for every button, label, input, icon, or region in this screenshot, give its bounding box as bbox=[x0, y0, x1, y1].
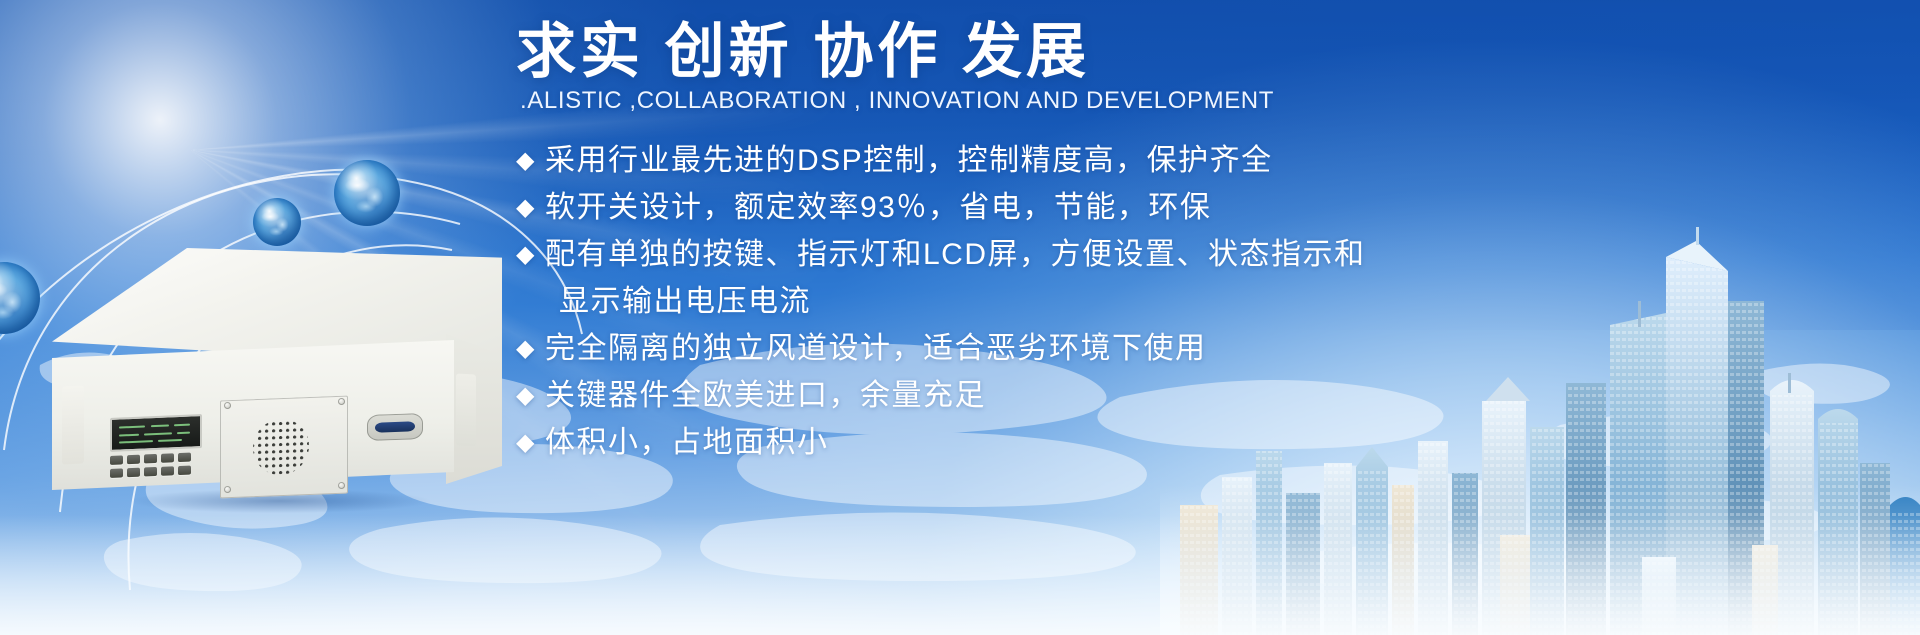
feature-list-item-text: 显示输出电压电流 bbox=[545, 278, 811, 325]
globe-sphere bbox=[334, 160, 400, 226]
feature-list: ◆采用行业最先进的DSP控制，控制精度高，保护齐全◆软开关设计，额定效率93％，… bbox=[516, 137, 1826, 466]
feature-list-item-text: 完全隔离的独立风道设计，适合恶劣环境下使用 bbox=[545, 325, 1207, 372]
globe-sphere bbox=[253, 198, 301, 246]
diamond-bullet-icon: ◆ bbox=[516, 184, 536, 231]
feature-list-item: ◆采用行业最先进的DSP控制，控制精度高，保护齐全 bbox=[516, 137, 1826, 184]
banner-subheadline: .ALISTIC ,COLLABORATION , INNOVATION AND… bbox=[520, 87, 1826, 115]
device-fan-vent bbox=[237, 406, 325, 487]
product-rack-mount-power-supply bbox=[52, 248, 502, 513]
feature-list-item: ◆软开关设计，额定效率93％，省电，节能，环保 bbox=[516, 184, 1826, 231]
feature-list-item: ◆体积小，占地面积小 bbox=[516, 419, 1826, 466]
feature-list-item: ◆完全隔离的独立风道设计，适合恶劣环境下使用 bbox=[516, 325, 1826, 372]
feature-list-item: ◆关键器件全欧美进口，余量充足 bbox=[516, 372, 1826, 419]
device-lcd-display bbox=[110, 414, 202, 452]
feature-list-item: ◆显示输出电压电流 bbox=[516, 278, 1826, 325]
ground-fade bbox=[0, 515, 1920, 635]
feature-list-item-text: 配有单独的按键、指示灯和LCD屏，方便设置、状态指示和 bbox=[545, 231, 1366, 278]
promotional-banner: 求实 创新 协作 发展 .ALISTIC ,COLLABORATION , IN… bbox=[0, 0, 1920, 635]
diamond-bullet-icon: ◆ bbox=[516, 137, 536, 184]
feature-list-item: ◆配有单独的按键、指示灯和LCD屏，方便设置、状态指示和 bbox=[516, 231, 1826, 278]
diamond-bullet-icon: ◆ bbox=[516, 372, 536, 419]
banner-headline: 求实 创新 协作 发展 bbox=[516, 18, 1826, 85]
device-screw bbox=[224, 402, 231, 409]
device-rack-ear-right bbox=[456, 373, 476, 446]
device-screw bbox=[338, 482, 345, 489]
device-keypad bbox=[110, 452, 202, 482]
banner-text-block: 求实 创新 协作 发展 .ALISTIC ,COLLABORATION , IN… bbox=[516, 18, 1826, 466]
feature-list-item-text: 软开关设计，额定效率93％，省电，节能，环保 bbox=[545, 184, 1211, 231]
diamond-bullet-icon: ◆ bbox=[516, 325, 536, 372]
feature-list-item-text: 体积小，占地面积小 bbox=[545, 419, 829, 466]
diamond-bullet-icon: ◆ bbox=[516, 419, 536, 466]
device-screw bbox=[338, 398, 345, 405]
feature-list-item-text: 关键器件全欧美进口，余量充足 bbox=[545, 372, 986, 419]
feature-list-item-text: 采用行业最先进的DSP控制，控制精度高，保护齐全 bbox=[545, 137, 1273, 184]
device-screw bbox=[224, 486, 231, 493]
diamond-bullet-icon: ◆ bbox=[516, 231, 536, 278]
device-rack-ear-left bbox=[62, 385, 84, 464]
device-db9-connector bbox=[367, 413, 423, 441]
